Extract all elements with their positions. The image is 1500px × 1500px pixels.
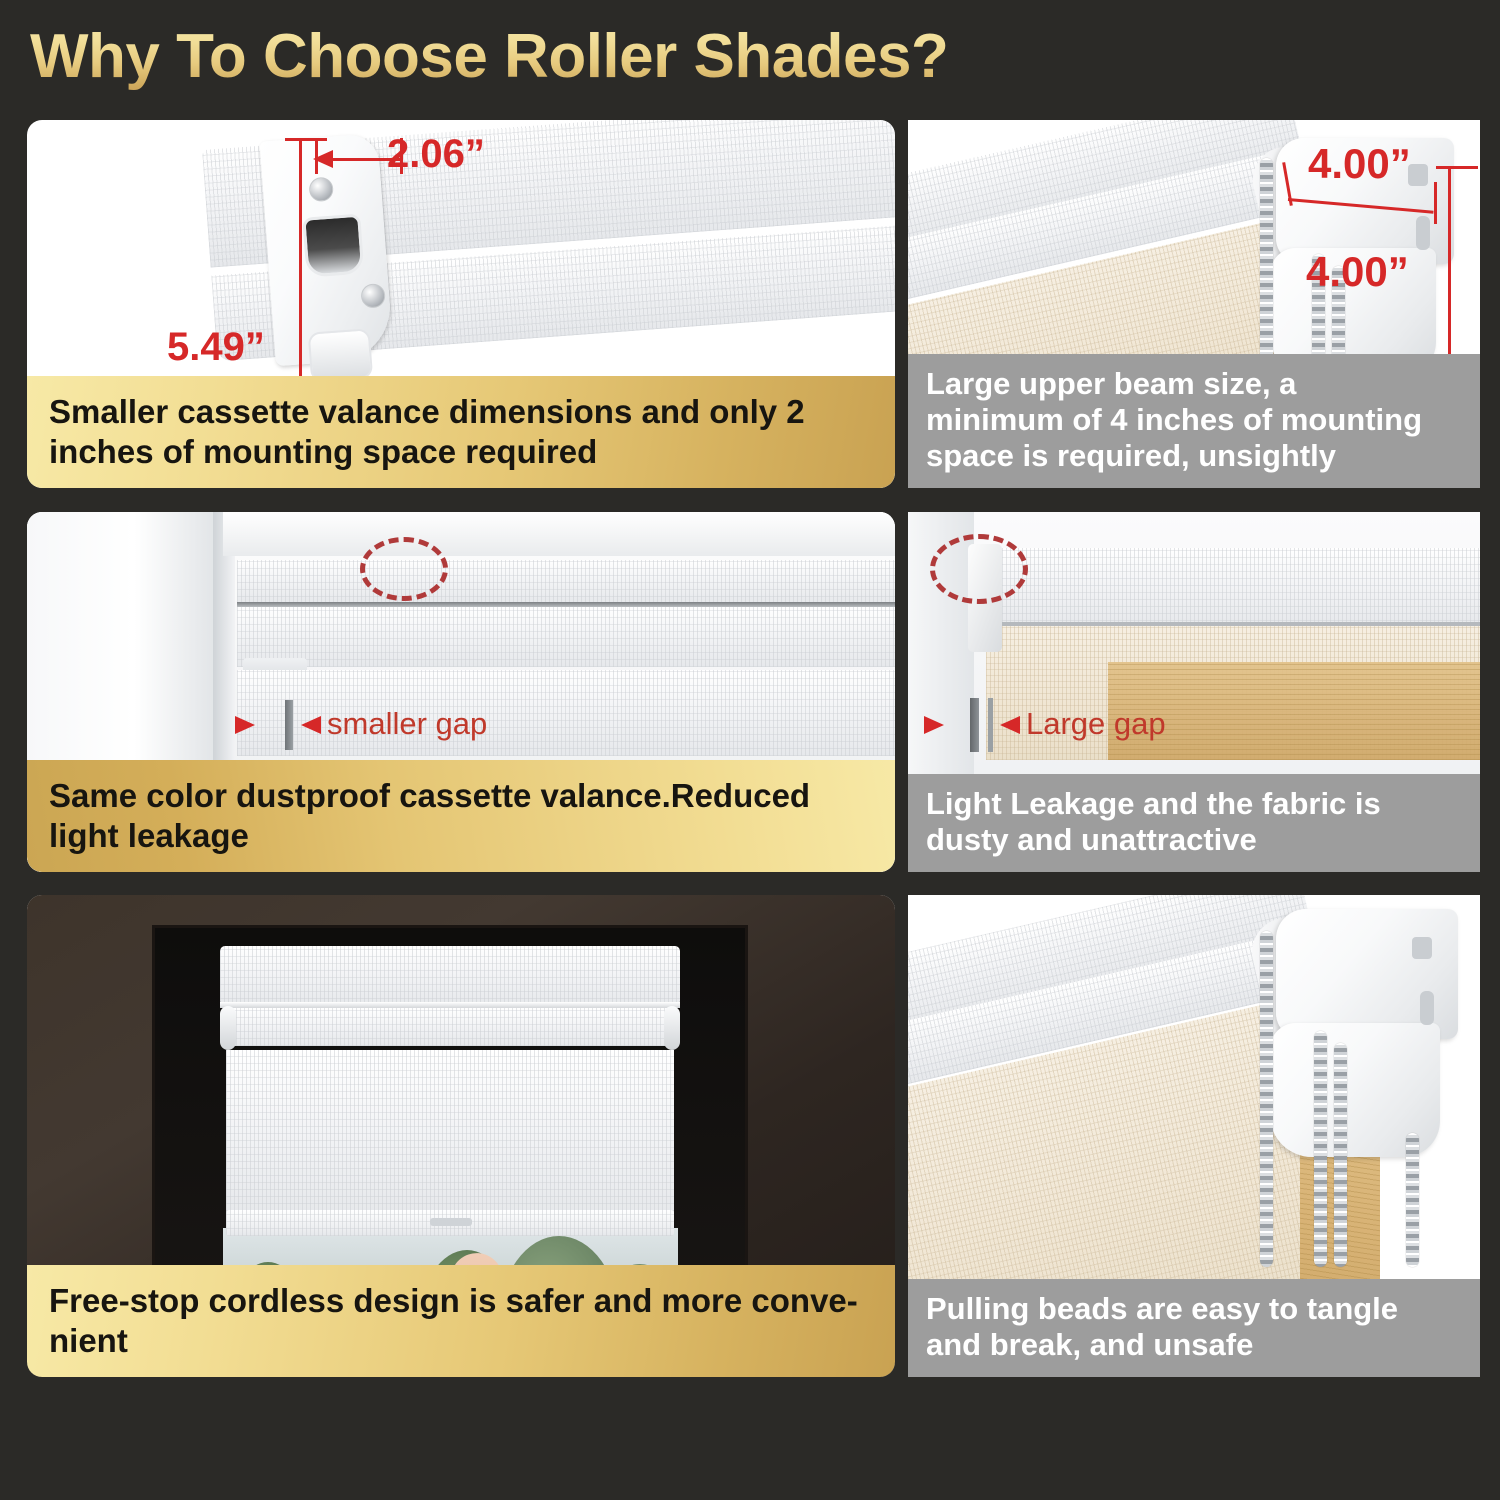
width-dimension-label: 2.06” bbox=[387, 132, 485, 177]
caption-line: light leakage bbox=[49, 816, 875, 856]
highlight-ellipse-annotation bbox=[930, 534, 1028, 604]
caption-line: Large upper beam size, a bbox=[926, 366, 1464, 402]
bead-chain bbox=[1334, 1043, 1347, 1267]
height-dimension-label: 5.49” bbox=[167, 325, 265, 370]
window-frame-top bbox=[223, 512, 895, 556]
gap-arrow-left-icon bbox=[1000, 716, 1020, 734]
beam-width-tick-right bbox=[1434, 182, 1437, 224]
bead-chain bbox=[1314, 1031, 1327, 1267]
infographic-root: Why To Choose Roller Shades? 2.06” bbox=[0, 0, 1500, 1500]
cassette-slot-opening bbox=[302, 214, 364, 278]
panel-large-upper-beam: 4.00” 4.00” Large upper beam size, a min… bbox=[908, 120, 1480, 488]
caption-line: Free-stop cordless design is safer and m… bbox=[49, 1281, 875, 1321]
page-title: Why To Choose Roller Shades? bbox=[30, 18, 1130, 96]
highlight-ellipse-annotation bbox=[360, 537, 448, 601]
bracket-slot bbox=[1420, 991, 1434, 1025]
caption-line: and break, and unsafe bbox=[926, 1327, 1464, 1363]
beam-width-label: 4.00” bbox=[1308, 140, 1411, 188]
bracket-slot bbox=[1416, 216, 1430, 250]
gap-indicator-bar bbox=[970, 698, 979, 752]
panel-light-leakage: Large gap Light Leakage and the fabric i… bbox=[908, 512, 1480, 872]
large-gap-label: Large gap bbox=[1026, 706, 1166, 742]
bead-chain bbox=[1406, 1133, 1419, 1267]
panel-2-caption: Large upper beam size, a minimum of 4 in… bbox=[908, 354, 1480, 488]
smaller-gap-label: smaller gap bbox=[327, 706, 487, 742]
panel-free-stop-cordless: Free-stop cordless design is safer and m… bbox=[27, 895, 895, 1377]
shade-fabric-body bbox=[226, 1050, 674, 1218]
roller-tube-white bbox=[978, 548, 1480, 628]
caption-line: Smaller cassette valance dimensions and … bbox=[49, 392, 875, 432]
caption-line: Same color dustproof cassette valance.Re… bbox=[49, 776, 875, 816]
bracket-notch bbox=[1412, 937, 1432, 959]
end-cap-right bbox=[664, 1006, 680, 1050]
panel-same-color-dustproof: smaller gap Same color dustproof cassett… bbox=[27, 512, 895, 872]
panel-3-caption: Same color dustproof cassette valance.Re… bbox=[27, 760, 895, 872]
gap-arrow-left-icon bbox=[301, 716, 321, 734]
gap-arrow-right-icon bbox=[235, 716, 255, 734]
gap-arrow-right-icon bbox=[924, 716, 944, 734]
beam-height-label: 4.00” bbox=[1306, 248, 1409, 296]
cassette-valance-product-image bbox=[202, 120, 895, 399]
caption-line: space is required, unsightly bbox=[926, 438, 1464, 474]
end-cap-left bbox=[220, 1006, 236, 1050]
cassette-bottom-bracket bbox=[308, 328, 373, 382]
beam-height-tick-top bbox=[1436, 166, 1478, 169]
cassette-valance-front bbox=[237, 560, 895, 604]
roller-shade-assembly bbox=[220, 946, 680, 1236]
panel-6-caption: Pulling beads are easy to tangle and bre… bbox=[908, 1279, 1480, 1377]
gap-indicator-bar bbox=[285, 700, 293, 750]
panel-1-caption: Smaller cassette valance dimensions and … bbox=[27, 376, 895, 488]
panel-pulling-beads: Pulling beads are easy to tangle and bre… bbox=[908, 895, 1480, 1377]
bracket-notch bbox=[1408, 164, 1428, 186]
bead-chain bbox=[1260, 931, 1273, 1267]
width-tick-left bbox=[315, 140, 318, 174]
caption-line: inches of mounting space required bbox=[49, 432, 875, 472]
panel-5-caption: Free-stop cordless design is safer and m… bbox=[27, 1265, 895, 1377]
caption-line: Light Leakage and the fabric is bbox=[926, 786, 1464, 822]
caption-line: minimum of 4 inches of mounting bbox=[926, 402, 1464, 438]
caption-line: Pulling beads are easy to tangle bbox=[926, 1291, 1464, 1327]
shade-upper-band bbox=[224, 1008, 676, 1046]
cassette-valance bbox=[220, 946, 680, 1006]
beam-height-dimension-line bbox=[1448, 166, 1451, 368]
height-tick-top bbox=[285, 138, 327, 141]
shade-fabric-upper bbox=[237, 607, 895, 667]
panel-4-caption: Light Leakage and the fabric is dusty an… bbox=[908, 774, 1480, 872]
gap-indicator-bar-2 bbox=[988, 698, 993, 752]
bottom-rail-grip bbox=[430, 1218, 472, 1226]
panel-smaller-cassette: 2.06” 5.49” Smaller cassette valance dim… bbox=[27, 120, 895, 488]
caption-line: nient bbox=[49, 1321, 875, 1361]
caption-line: dusty and unattractive bbox=[926, 822, 1464, 858]
